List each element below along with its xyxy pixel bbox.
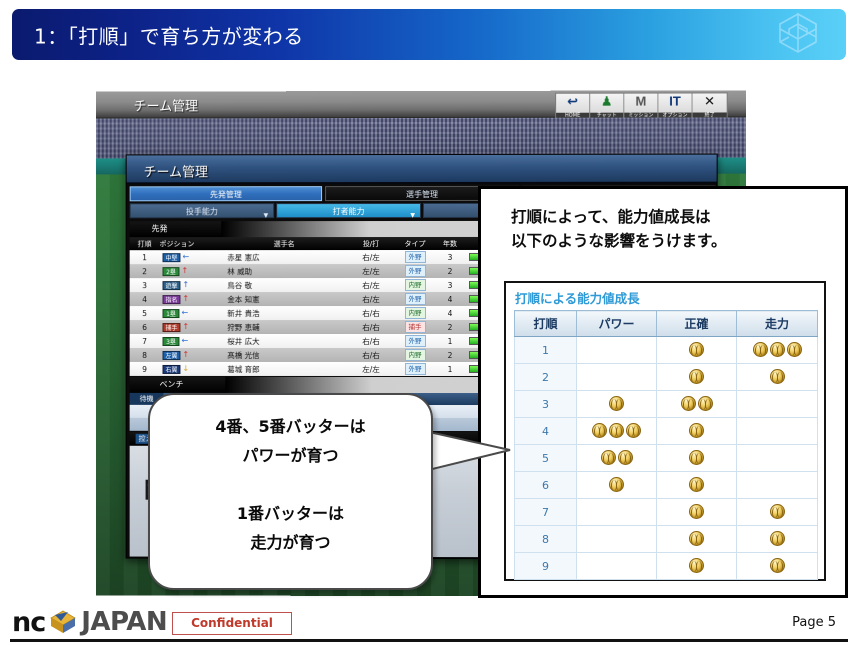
growth-cell-power [577,499,657,526]
game-toolbar: ↩ HOME ♟ チャット M ミッション IT オプション ✕ 終了 [555,92,728,120]
roster-cell-years: 1 [435,336,465,345]
roster-cell-name: 髙橋 光信 [221,349,347,360]
roster-cell-th: 左/左 [347,266,395,277]
growth-cell-power [577,445,657,472]
roster-cell-th: 左/左 [347,363,395,374]
trend-arrow-icon: ↑ [182,295,189,303]
tab-starter-management[interactable]: 先発管理 [130,186,323,201]
growth-table: 打順 パワー 正確 走力 123456789 [514,310,818,580]
roster-cell-pos: 左翼↑ [160,350,222,359]
position-chip: 遊撃 [163,281,181,290]
position-chip: 指名 [163,295,181,304]
subtab-batter-ability-label: 打者能力 [333,207,365,216]
footer-divider [10,639,848,642]
explanation-panel: 打順によって、能力値成長は 以下のような影響をうけます。 打順による能力値成長 … [478,186,848,598]
growth-table-body: 123456789 [515,337,818,580]
roster-cell-years: 2 [435,322,465,331]
section-starter-label: 先発 [152,223,168,234]
type-chip: 内野 [405,349,426,361]
baseball-icon [618,450,633,465]
position-chip: 2塁 [163,267,180,276]
baseball-icon [689,423,704,438]
type-chip: 外野 [405,335,426,347]
growth-cell-accuracy [657,391,737,418]
roster-cell-pos: 指名↑ [160,295,222,304]
trend-arrow-icon: ← [181,309,188,317]
roster-cell-th: 右/左 [347,294,395,305]
roster-cell-years: 1 [435,365,465,374]
baseball-icon [592,423,607,438]
roster-col-pos: ポジション [160,239,222,249]
growth-table-row: 6 [515,472,818,499]
growth-cell-ord: 4 [515,418,577,445]
roster-cell-pos: 捕手↑ [160,323,222,332]
roster-cell-name: 金本 知憲 [221,294,347,305]
confidential-badge: Confidential [172,612,292,635]
logo-japan-text: JAPAN [81,607,167,637]
roster-cell-th: 右/左 [347,280,395,291]
roster-col-th: 投/打 [347,239,395,249]
logo-nc-text: nc [12,607,45,638]
slide-header-band: 1：「打順」で育ち方が変わる [12,9,846,60]
trend-arrow-icon: ↑ [182,281,189,289]
roster-cell-th: 右/右 [347,336,395,347]
roster-cell-type: 内野 [395,307,435,319]
roster-cell-pos: 3塁← [160,337,222,346]
type-chip: 外野 [405,265,426,277]
position-chip: 左翼 [163,350,181,359]
roster-cell-name: 赤星 憲広 [221,252,347,263]
roster-cell-ord: 1 [130,253,160,262]
type-chip: 外野 [405,251,426,263]
growth-cell-accuracy [657,499,737,526]
chat-person-icon: ♟ [601,94,613,109]
baseball-icon [689,504,704,519]
growth-cell-power [577,418,657,445]
roster-cell-years: 3 [435,252,465,261]
option-icon: IT [669,94,681,109]
growth-col-power: パワー [577,311,657,337]
section-bench-label: ベンチ [160,379,184,390]
roster-cell-type: 捕手 [395,321,435,333]
speech-bubble: 4番、5番バッターは パワーが育つ 1番バッターは 走力が育つ [148,393,433,590]
baseball-icon [689,477,704,492]
roster-cell-name: 新井 貴浩 [221,308,347,319]
roster-cell-th: 右/右 [347,349,395,360]
roster-cell-type: 外野 [395,293,435,305]
growth-cell-power [577,553,657,580]
trend-arrow-icon: ↑ [181,267,188,275]
roster-cell-type: 外野 [395,335,435,347]
trend-arrow-icon: ↓ [182,365,189,373]
roster-col-name: 選手名 [221,239,347,249]
game-window-titlebar: チーム管理 ↩ HOME ♟ チャット M ミッション IT オプション [96,90,746,118]
growth-cell-ord: 1 [515,337,577,364]
position-chip: 3塁 [163,337,180,346]
trend-arrow-icon: ← [181,337,188,345]
isometric-cube-logo-icon [758,9,836,60]
position-chip: 1塁 [163,309,180,318]
baseball-icon [770,369,785,384]
growth-cell-ord: 7 [515,499,577,526]
baseball-icon [698,396,713,411]
growth-table-title: 打順による能力値成長 [515,288,640,307]
baseball-icon [681,396,696,411]
roster-cell-pos: 中堅← [160,253,222,262]
speech-bubble-tail [420,428,512,474]
subtab-pitcher-ability-label: 投手能力 [186,207,218,216]
baseball-icon [609,477,624,492]
trend-arrow-icon: ↑ [182,323,189,331]
roster-cell-ord: 3 [130,281,160,290]
roster-cell-type: 内野 [395,279,435,291]
roster-col-years: 年数 [435,238,465,248]
growth-cell-speed [737,391,818,418]
nc-diamond-logo-icon [48,609,78,635]
position-chip: 捕手 [163,323,181,332]
roster-cell-name: 林 威助 [221,266,347,277]
type-chip: 外野 [405,363,426,375]
roster-cell-ord: 7 [130,337,160,346]
roster-cell-pos: 1塁← [160,309,222,318]
page-title: 1：「打順」で育ち方が変わる [34,20,304,49]
roster-cell-th: 右/右 [347,308,395,319]
speech-bubble-text: 4番、5番バッターは パワーが育つ 1番バッターは 走力が育つ [150,412,431,557]
growth-cell-speed [737,499,818,526]
growth-cell-ord: 6 [515,472,577,499]
baseball-icon [787,342,802,357]
baseball-icon [601,450,616,465]
growth-col-speed: 走力 [737,311,818,337]
trend-arrow-icon: ↑ [182,351,189,359]
type-chip: 内野 [405,279,426,291]
roster-cell-years: 3 [435,280,465,289]
growth-cell-power [577,364,657,391]
baseball-icon [770,531,785,546]
back-arrow-icon: ↩ [567,94,578,109]
roster-cell-pos: 2塁↑ [160,267,222,276]
toolbar-home-button[interactable]: ↩ HOME [556,94,590,120]
baseball-icon [770,504,785,519]
roster-cell-type: 外野 [395,251,435,263]
growth-cell-ord: 2 [515,364,577,391]
baseball-icon [609,396,624,411]
roster-col-type: タイプ [395,238,435,248]
roster-cell-type: 外野 [395,265,435,277]
roster-cell-name: 鳥谷 敬 [221,280,347,291]
position-chip: 中堅 [163,253,181,262]
growth-cell-ord: 8 [515,526,577,553]
growth-cell-accuracy [657,364,737,391]
growth-cell-accuracy [657,472,737,499]
game-window-title: チーム管理 [134,95,198,114]
roster-cell-th: 右/右 [347,322,395,333]
panel-heading: 打順によって、能力値成長は 以下のような影響をうけます。 [511,205,831,253]
roster-cell-ord: 8 [130,350,160,359]
toolbar-exit-button[interactable]: ✕ 終了 [693,93,727,119]
roster-cell-pos: 遊撃↑ [160,281,222,290]
baseball-icon [753,342,768,357]
position-chip: 右翼 [163,364,181,373]
roster-cell-years: 4 [435,294,465,303]
growth-table-row: 4 [515,418,818,445]
roster-cell-name: 葛城 育郎 [221,363,347,374]
roster-cell-years: 2 [435,266,465,275]
growth-col-accuracy: 正確 [657,311,737,337]
growth-col-ord: 打順 [515,311,577,337]
growth-table-header-row: 打順 パワー 正確 走力 [515,311,818,337]
growth-cell-ord: 9 [515,553,577,580]
growth-table-box: 打順による能力値成長 打順 パワー 正確 走力 123456789 [504,281,826,581]
growth-table-row: 3 [515,391,818,418]
growth-cell-speed [737,337,818,364]
baseball-icon [689,531,704,546]
growth-cell-ord: 3 [515,391,577,418]
baseball-icon [689,450,704,465]
growth-cell-speed [737,364,818,391]
subtab-batter-ability[interactable]: 打者能力 ▼ [276,203,421,218]
growth-cell-speed [737,445,818,472]
roster-cell-ord: 9 [130,364,160,373]
growth-table-row: 9 [515,553,818,580]
roster-cell-name: 桜井 広大 [221,336,347,347]
baseball-icon [770,558,785,573]
team-management-title: チーム管理 [144,161,208,180]
baseball-icon [609,423,624,438]
type-chip: 外野 [405,293,426,305]
roster-cell-ord: 5 [130,309,160,318]
growth-table-row: 5 [515,445,818,472]
roster-cell-ord: 6 [130,323,160,332]
page-number: Page 5 [792,615,836,630]
slide-root: 1：「打順」で育ち方が変わる チーム管理 ↩ HOME [0,0,858,645]
team-management-header: チーム管理 [127,155,717,185]
growth-cell-speed [737,526,818,553]
roster-cell-years: 2 [435,351,465,360]
type-chip: 内野 [405,307,426,319]
roster-cell-ord: 2 [130,267,160,276]
roster-cell-type: 内野 [395,349,435,361]
growth-cell-power [577,391,657,418]
growth-cell-power [577,337,657,364]
growth-cell-ord: 5 [515,445,577,472]
growth-cell-speed [737,472,818,499]
toolbar-option-button[interactable]: IT オプション [658,93,692,119]
mission-icon: M [635,94,646,109]
growth-table-row: 8 [515,526,818,553]
baseball-icon [689,342,704,357]
baseball-icon [689,558,704,573]
growth-cell-accuracy [657,445,737,472]
growth-table-row: 2 [515,364,818,391]
growth-cell-accuracy [657,526,737,553]
growth-cell-accuracy [657,337,737,364]
baseball-icon [626,423,641,438]
baseball-icon [689,369,704,384]
roster-cell-years: 4 [435,308,465,317]
roster-col-ord: 打順 [130,239,160,249]
growth-cell-accuracy [657,553,737,580]
roster-cell-pos: 右翼↓ [160,364,222,373]
growth-cell-speed [737,418,818,445]
growth-table-row: 7 [515,499,818,526]
growth-cell-accuracy [657,418,737,445]
toolbar-chat-button[interactable]: ♟ チャット [590,94,624,120]
baseball-icon [770,342,785,357]
type-chip: 捕手 [405,321,426,333]
growth-table-row: 1 [515,337,818,364]
growth-cell-power [577,472,657,499]
toolbar-mission-button[interactable]: M ミッション [624,94,658,120]
growth-cell-power [577,526,657,553]
growth-cell-speed [737,553,818,580]
subtab-pitcher-ability[interactable]: 投手能力 ▼ [130,203,275,218]
roster-cell-ord: 4 [130,295,160,304]
roster-cell-type: 外野 [395,363,435,375]
roster-cell-name: 狩野 恵輔 [221,322,347,333]
nc-japan-logo: nc JAPAN [12,608,167,636]
roster-cell-th: 右/左 [347,252,395,263]
close-icon: ✕ [704,93,715,108]
trend-arrow-icon: ← [182,253,189,261]
